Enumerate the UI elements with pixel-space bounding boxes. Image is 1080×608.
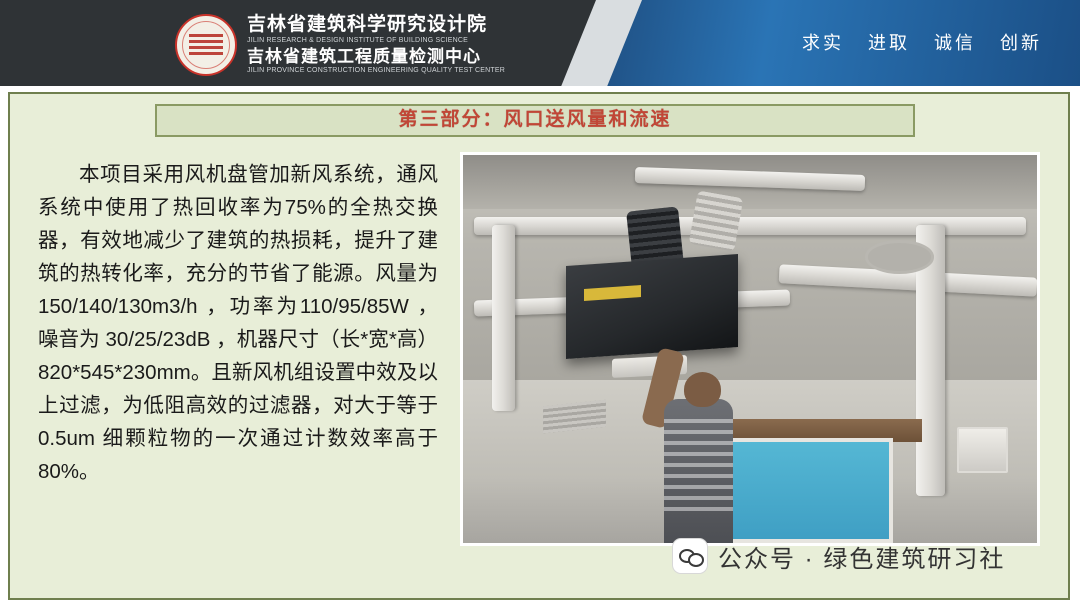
institute-name-group: 吉林省建筑科学研究设计院 JILIN RESEARCH & DESIGN INS…	[247, 15, 505, 74]
photo-pipe-vertical-2	[492, 225, 515, 411]
section-title: 第三部分：风口送风量和流速	[155, 104, 915, 137]
slogan-word-3: 诚信	[934, 33, 976, 53]
photo-wall-vent	[957, 427, 1009, 474]
photo-ceiling-opening	[865, 240, 934, 273]
institute-seal-icon	[175, 14, 237, 76]
body-text-block: 本项目采用风机盘管加新风系统，通风系统中使用了热回收率为75%的全热交换器，有效…	[38, 158, 438, 488]
watermark: 公众号 · 绿色建筑研习社	[672, 538, 1005, 574]
test-center-name-en: JILIN PROVINCE CONSTRUCTION ENGINEERING …	[247, 67, 505, 74]
slogan-word-1: 求实	[802, 33, 844, 53]
slide-root: 吉林省建筑科学研究设计院 JILIN RESEARCH & DESIGN INS…	[0, 0, 1080, 608]
wechat-logo-icon	[672, 538, 708, 574]
slide-header: 吉林省建筑科学研究设计院 JILIN RESEARCH & DESIGN INS…	[0, 0, 1080, 86]
slogan-word-2: 进取	[868, 33, 910, 53]
institute-name-en: JILIN RESEARCH & DESIGN INSTITUTE OF BUI…	[247, 37, 505, 44]
photo-fresh-air-unit	[566, 254, 738, 359]
test-center-name-cn: 吉林省建筑工程质量检测中心	[247, 48, 505, 66]
photo-worker-head	[684, 372, 721, 407]
institute-name-cn: 吉林省建筑科学研究设计院	[247, 15, 505, 35]
watermark-text: 公众号 · 绿色建筑研习社	[718, 539, 1005, 574]
photo-worker-shirt-stripes	[664, 419, 733, 512]
institute-logo-block: 吉林省建筑科学研究设计院 JILIN RESEARCH & DESIGN INS…	[175, 14, 505, 76]
body-paragraph: 本项目采用风机盘管加新风系统，通风系统中使用了热回收率为75%的全热交换器，有效…	[38, 158, 438, 488]
photo-flex-duct-2	[688, 190, 743, 251]
photo-window	[716, 438, 894, 543]
slogan-word-4: 创新	[1000, 33, 1042, 53]
site-photo	[460, 152, 1040, 546]
header-slogan: 求实 进取 诚信 创新	[802, 29, 1042, 55]
